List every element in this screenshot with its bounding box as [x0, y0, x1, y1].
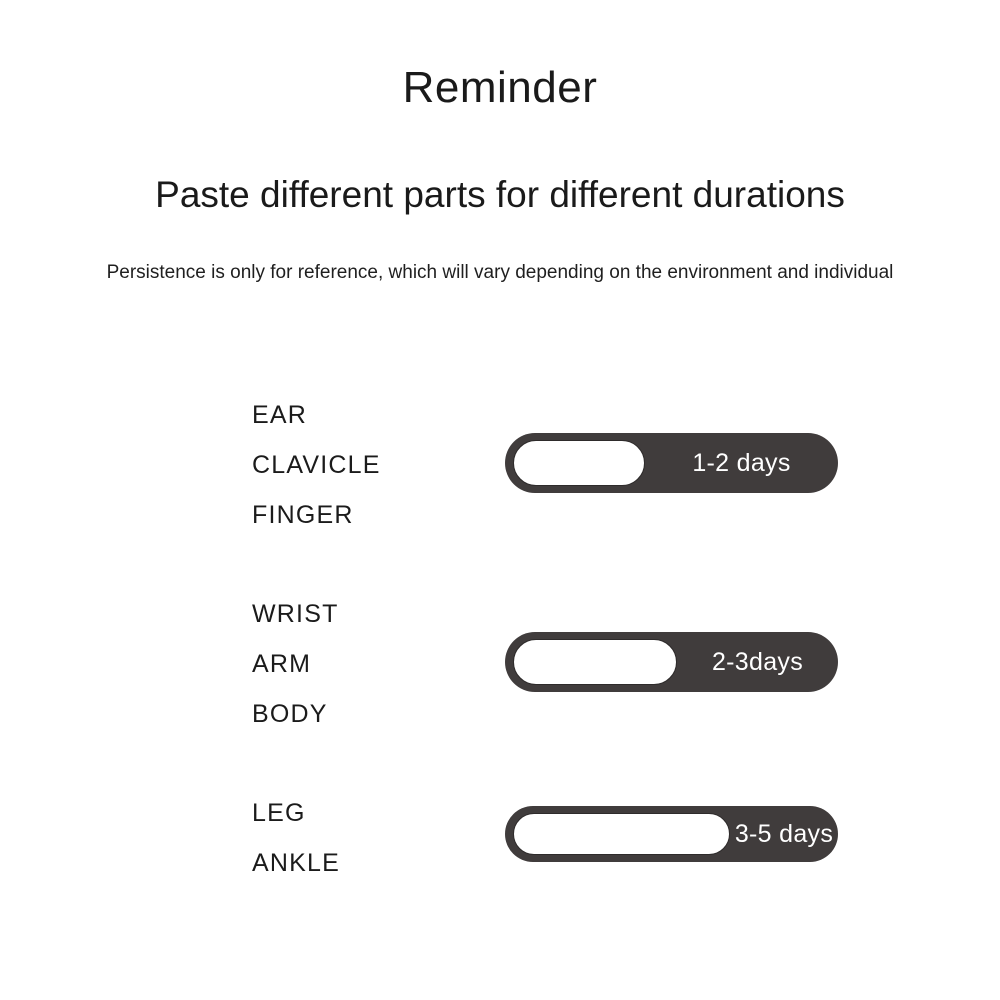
duration-bar-fill [513, 440, 645, 486]
duration-groups-list: EAR CLAVICLE FINGER 1-2 days WRIST ARM B… [0, 0, 1000, 1000]
reminder-infographic: Reminder Paste different parts for diffe… [0, 0, 1000, 1000]
duration-value: 1-2 days [645, 433, 838, 493]
duration-bar: 3-5 days [505, 806, 838, 862]
body-part-label: BODY [252, 689, 482, 739]
body-part-label: LEG [252, 788, 482, 838]
duration-bar: 2-3days [505, 632, 838, 692]
duration-bar-fill [513, 813, 730, 855]
body-part-label-group: EAR CLAVICLE FINGER [252, 390, 482, 540]
body-part-label: ANKLE [252, 838, 482, 888]
duration-bar: 1-2 days [505, 433, 838, 493]
body-part-label: ARM [252, 639, 482, 689]
body-part-label: EAR [252, 390, 482, 440]
duration-value: 3-5 days [730, 806, 838, 862]
body-part-label-group: LEG ANKLE [252, 788, 482, 888]
body-part-label: WRIST [252, 589, 482, 639]
duration-bar-fill [513, 639, 677, 685]
duration-value: 2-3days [677, 632, 838, 692]
body-part-label-group: WRIST ARM BODY [252, 589, 482, 739]
body-part-label: FINGER [252, 490, 482, 540]
body-part-label: CLAVICLE [252, 440, 482, 490]
